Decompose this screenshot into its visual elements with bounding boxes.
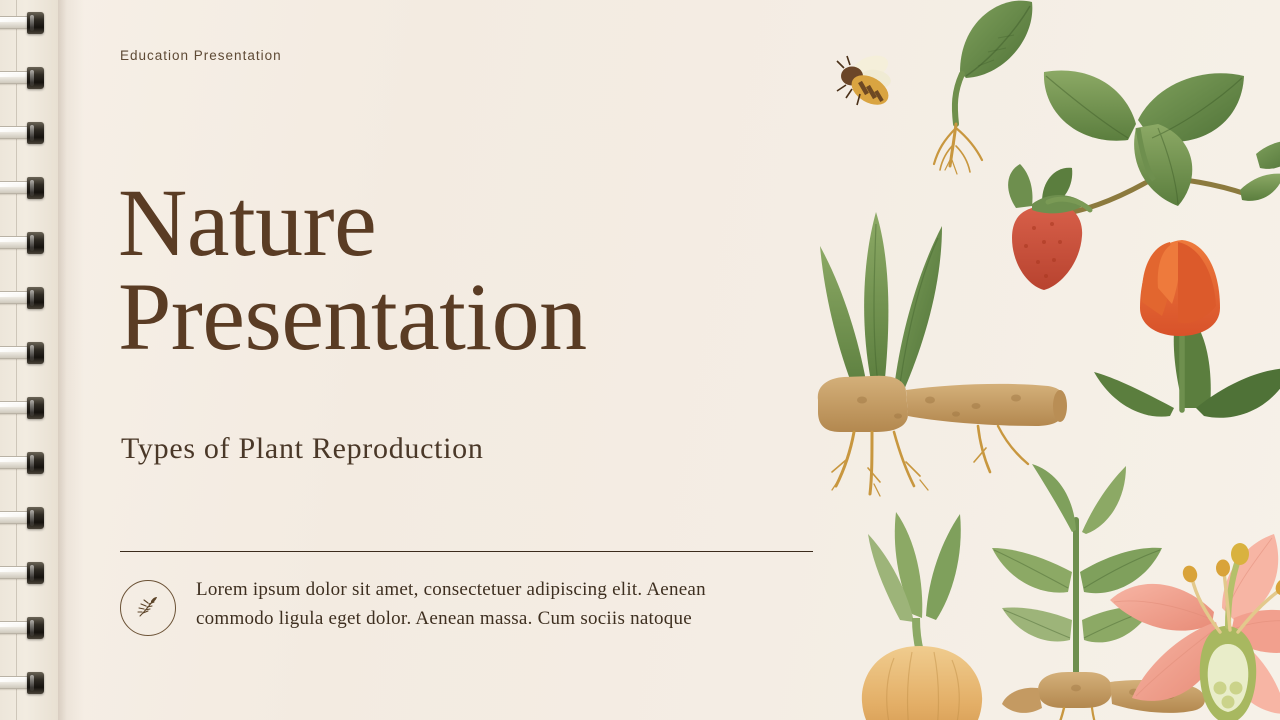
spiral-ring bbox=[0, 397, 46, 419]
spiral-ring bbox=[0, 232, 46, 254]
eyebrow-label: Education Presentation bbox=[120, 48, 282, 63]
page-title: Nature Presentation bbox=[118, 176, 587, 364]
spiral-ring bbox=[0, 122, 46, 144]
strawberry-plant-illustration bbox=[1008, 70, 1280, 290]
footer-block: Lorem ipsum dolor sit amet, consectetuer… bbox=[120, 576, 820, 636]
spiral-ring bbox=[0, 507, 46, 529]
spiral-ring bbox=[0, 12, 46, 34]
spiral-ring bbox=[0, 452, 46, 474]
spiral-ring bbox=[0, 562, 46, 584]
slide-canvas: Education Presentation Nature Presentati… bbox=[0, 0, 1280, 720]
leaf-sprig-icon bbox=[120, 580, 176, 636]
spiral-ring bbox=[0, 287, 46, 309]
tulip-illustration bbox=[1094, 240, 1280, 418]
onion-bulb-illustration bbox=[862, 512, 982, 720]
spiral-ring bbox=[0, 342, 46, 364]
botanical-artwork bbox=[810, 0, 1280, 720]
section-divider bbox=[120, 551, 813, 552]
title-line-2: Presentation bbox=[118, 270, 587, 364]
body-paragraph: Lorem ipsum dolor sit amet, consectetuer… bbox=[196, 576, 756, 634]
title-line-1: Nature bbox=[118, 169, 376, 276]
page-subtitle: Types of Plant Reproduction bbox=[121, 432, 484, 466]
spiral-ring bbox=[0, 672, 46, 694]
spiral-ring bbox=[0, 617, 46, 639]
seedling-with-roots-illustration bbox=[934, 1, 1032, 174]
spiral-ring bbox=[0, 177, 46, 199]
spiral-ring bbox=[0, 67, 46, 89]
spiral-binding bbox=[0, 0, 60, 720]
bee-illustration bbox=[837, 51, 894, 111]
